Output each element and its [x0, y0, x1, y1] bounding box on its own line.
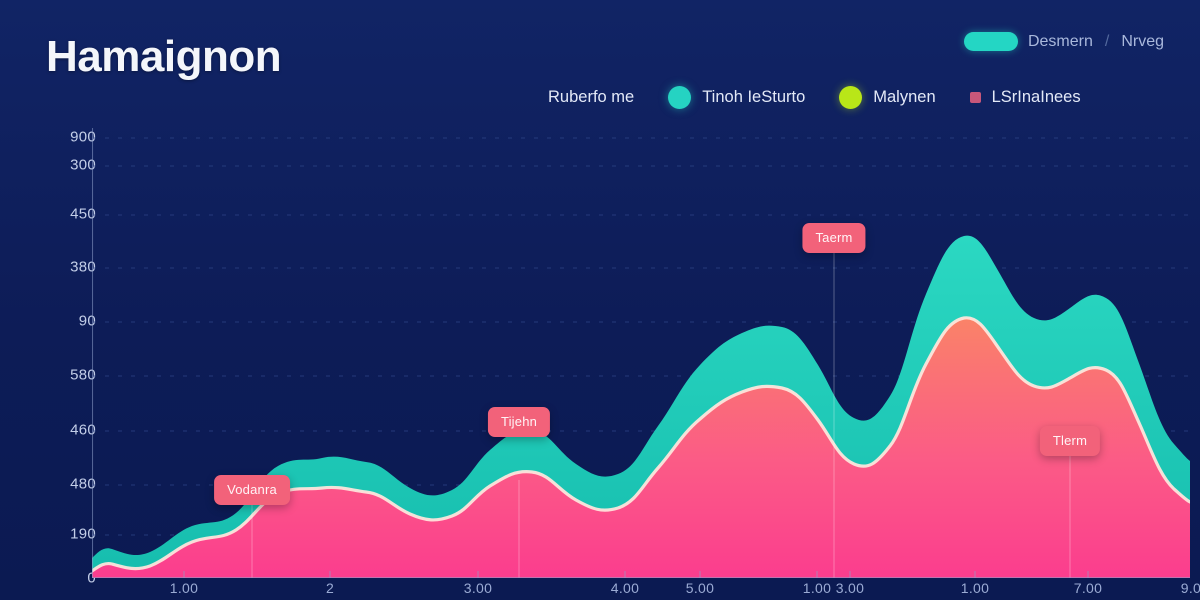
teal-dot-icon — [668, 86, 691, 109]
x-tick-label: 5.00 — [665, 580, 735, 596]
y-tick-label: 300 — [36, 157, 96, 174]
legend-item-2[interactable]: Malynen — [839, 86, 935, 109]
lime-dot-icon — [839, 86, 862, 109]
y-tick-label: 580 — [36, 367, 96, 384]
data-badge[interactable]: Taerm — [802, 223, 865, 253]
legend-pill-swatch[interactable] — [964, 32, 1018, 51]
legend-item-label-0: Ruberfo me — [548, 88, 634, 107]
page-title: Hamaignon — [46, 32, 281, 82]
x-tick-label: 9.00 — [1160, 580, 1200, 596]
legend-top-label-2: Nrveg — [1121, 33, 1164, 51]
chart-page: Hamaignon Desmern / Nrveg Ruberfo me Tin… — [0, 0, 1200, 600]
y-tick-label: 480 — [36, 476, 96, 493]
legend-item-label-1: Tinoh IeSturto — [702, 88, 805, 107]
data-badge[interactable]: Vodanra — [214, 475, 290, 505]
legend-item-1[interactable]: Tinoh IeSturto — [668, 86, 805, 109]
x-tick-label: 7.00 — [1053, 580, 1123, 596]
legend-item-label-3: LSrInaInees — [992, 88, 1081, 107]
plot-area: 1.00 2 3.00 4.00 5.00 1.00 3.00 1.00 7.0… — [92, 128, 1190, 578]
x-tick-label: 1.00 — [940, 580, 1010, 596]
area-chart-svg — [92, 128, 1190, 578]
pink-tick-icon — [970, 92, 981, 103]
legend-top-separator: / — [1103, 33, 1111, 51]
x-tick-label: 4.00 — [590, 580, 660, 596]
x-tick-label: 3.00 — [443, 580, 513, 596]
y-tick-label: 900 — [36, 129, 96, 146]
y-tick-label: 190 — [36, 526, 96, 543]
data-badge[interactable]: Tlerm — [1040, 426, 1100, 456]
legend-item-0[interactable]: Ruberfo me — [548, 88, 634, 107]
y-tick-label: 460 — [36, 422, 96, 439]
y-tick-label: 380 — [36, 259, 96, 276]
legend-item-3[interactable]: LSrInaInees — [970, 88, 1081, 107]
x-tick-label: 3.00 — [815, 580, 885, 596]
y-tick-label: 450 — [36, 206, 96, 223]
legend-main: Ruberfo me Tinoh IeSturto Malynen LSrIna… — [548, 86, 1170, 109]
legend-item-label-2: Malynen — [873, 88, 935, 107]
legend-top-label-1: Desmern — [1028, 33, 1093, 51]
y-tick-label: 90 — [36, 313, 96, 330]
data-badge[interactable]: Tijehn — [488, 407, 550, 437]
y-tick-label: 0 — [36, 570, 96, 587]
legend-top: Desmern / Nrveg — [964, 32, 1164, 51]
x-tick-label: 2 — [295, 580, 365, 596]
x-tick-label: 1.00 — [149, 580, 219, 596]
